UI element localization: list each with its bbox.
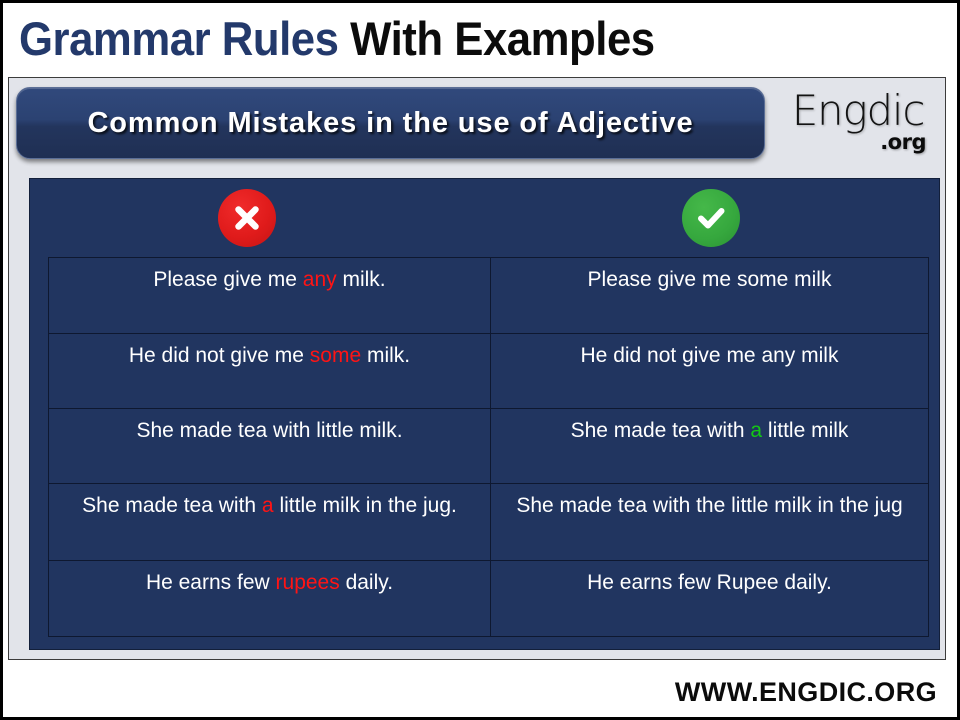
logo-wordmark: Engdic — [774, 90, 942, 132]
title-part-blue: Grammar Rules — [19, 12, 350, 65]
cell-text-post: daily. — [340, 571, 393, 594]
cell-correct: She made tea with a little milk — [491, 409, 929, 484]
section-heading-label: Common Mistakes in the use of Adjective — [87, 107, 693, 140]
table-row: She made tea with a little milk in the j… — [49, 484, 929, 561]
cell-text-pre: Please give me some milk — [588, 268, 832, 291]
logo-tld: .org — [880, 130, 926, 154]
cell-text-pre: He earns few — [146, 571, 276, 594]
cell-text-pre: She made tea with the little milk in the… — [516, 494, 902, 517]
comparison-header-row — [30, 179, 941, 257]
cell-correct: Please give me some milk — [491, 258, 929, 334]
title-text: Grammar Rules With Examples — [19, 15, 655, 62]
engdic-logo: Engdic .org — [774, 88, 942, 160]
table-row: Please give me any milk. Please give me … — [49, 258, 929, 334]
section-heading-badge: Common Mistakes in the use of Adjective — [16, 87, 765, 159]
cell-text-pre: Please give me — [153, 268, 302, 291]
cell-incorrect: He did not give me some milk. — [49, 334, 491, 409]
examples-table: Please give me any milk. Please give me … — [48, 257, 929, 637]
cell-text-pre: She made tea with — [82, 494, 262, 517]
comparison-panel: Please give me any milk. Please give me … — [29, 178, 940, 650]
table-row: He did not give me some milk. He did not… — [49, 334, 929, 409]
table-row: He earns few rupees daily. He earns few … — [49, 561, 929, 637]
cell-incorrect: She made tea with little milk. — [49, 409, 491, 484]
cell-text-highlight: some — [310, 344, 361, 367]
cell-correct: He earns few Rupee daily. — [491, 561, 929, 637]
check-circle-icon — [682, 189, 740, 247]
cell-text-highlight: rupees — [276, 571, 340, 594]
cell-incorrect: Please give me any milk. — [49, 258, 491, 334]
examples-table-body: Please give me any milk. Please give me … — [49, 258, 929, 637]
cell-correct: She made tea with the little milk in the… — [491, 484, 929, 561]
page-title: Grammar Rules With Examples — [3, 3, 957, 73]
cell-incorrect: She made tea with a little milk in the j… — [49, 484, 491, 561]
table-row: She made tea with little milk. She made … — [49, 409, 929, 484]
footer: WWW.ENGDIC.ORG — [3, 667, 957, 717]
cell-text-pre: He did not give me — [129, 344, 310, 367]
cell-text-post: little milk — [762, 419, 848, 442]
footer-website: WWW.ENGDIC.ORG — [675, 677, 937, 708]
cell-text-pre: She made tea with little milk. — [136, 419, 402, 442]
cell-text-post: little milk in the jug. — [274, 494, 457, 517]
cell-correct: He did not give me any milk — [491, 334, 929, 409]
cell-text-highlight: any — [303, 268, 337, 291]
cross-circle-icon — [218, 189, 276, 247]
cell-text-post: milk. — [337, 268, 386, 291]
cell-text-highlight: a — [262, 494, 274, 517]
cell-text-pre: He did not give me any milk — [581, 344, 839, 367]
cell-text-pre: She made tea with — [571, 419, 751, 442]
title-part-black: With Examples — [350, 12, 654, 65]
cell-incorrect: He earns few rupees daily. — [49, 561, 491, 637]
slide-canvas: Grammar Rules With Examples Common Mista… — [0, 0, 960, 720]
cell-text-pre: He earns few Rupee daily. — [587, 571, 832, 594]
content-panel: Common Mistakes in the use of Adjective … — [8, 77, 946, 660]
cell-text-post: milk. — [361, 344, 410, 367]
cell-text-highlight: a — [750, 419, 762, 442]
